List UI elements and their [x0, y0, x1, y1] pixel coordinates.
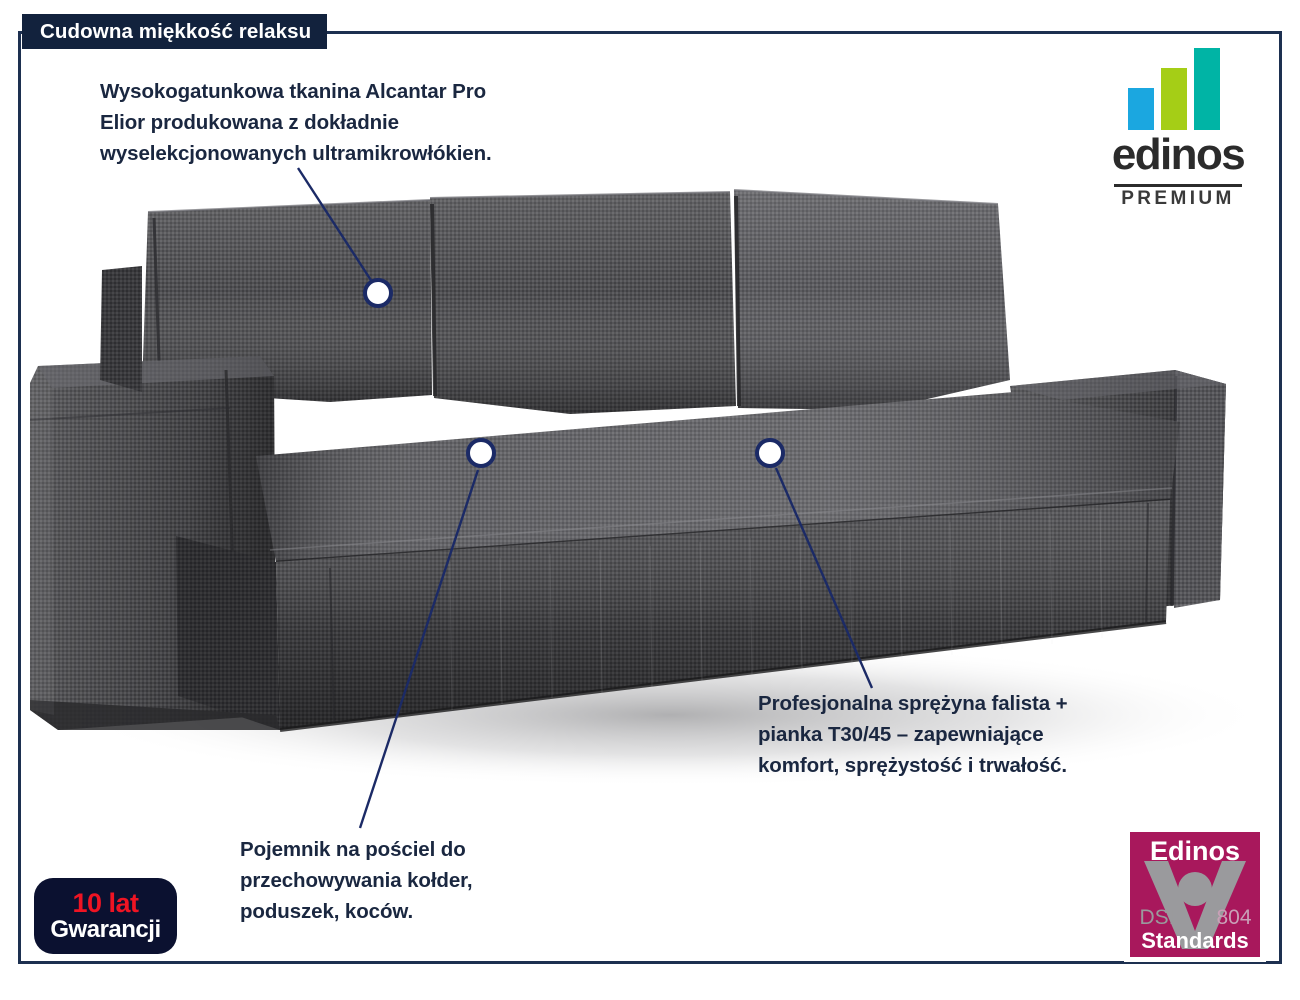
dsi-code-right: 804: [1216, 906, 1251, 929]
callout-text-storage: Pojemnik na pościel do przechowywania ko…: [240, 834, 473, 927]
callout-dot-storage[interactable]: [466, 438, 496, 468]
warranty-badge: 10 lat Gwarancji: [34, 878, 177, 954]
callout-line: komfort, sprężystość i trwałość.: [758, 750, 1068, 781]
dsi-standard-text: Standards: [1141, 928, 1249, 953]
dsi-badge-graphic: Edinos DSI 804 Standards: [1124, 827, 1266, 962]
logo-wordmark: edinos: [1090, 130, 1266, 180]
callout-line: Elior produkowana z dokładnie: [100, 107, 492, 138]
infographic-root: Wysokogatunkowa tkanina Alcantar Pro Eli…: [0, 0, 1300, 1000]
logo-bar-teal: [1194, 48, 1220, 130]
logo-bar-lime: [1161, 68, 1187, 130]
logo-bar-blue: [1128, 88, 1154, 130]
callout-line: Profesjonalna sprężyna falista +: [758, 688, 1068, 719]
edinos-premium-logo: edinos PREMIUM: [1090, 48, 1266, 220]
callout-line: wyselekcjonowanych ultramikrowłókien.: [100, 138, 492, 169]
warranty-years: 10 lat: [72, 889, 138, 917]
logo-bars-icon: [1128, 48, 1228, 130]
sofa-illustration: [30, 170, 1260, 820]
logo-divider: [1114, 184, 1242, 187]
callout-line: Pojemnik na pościel do: [240, 834, 473, 865]
callout-text-fabric: Wysokogatunkowa tkanina Alcantar Pro Eli…: [100, 76, 492, 169]
product-photo: [30, 170, 1260, 820]
callout-dot-spring[interactable]: [755, 438, 785, 468]
page-title: Cudowna miękkość relaksu: [22, 14, 327, 49]
warranty-label: Gwarancji: [50, 917, 160, 943]
callout-line: poduszek, koców.: [240, 896, 473, 927]
dsi-standards-badge: Edinos DSI 804 Standards: [1124, 827, 1266, 962]
callout-line: pianka T30/45 – zapewniające: [758, 719, 1068, 750]
callout-line: Wysokogatunkowa tkanina Alcantar Pro: [100, 76, 492, 107]
callout-text-spring: Profesjonalna sprężyna falista + pianka …: [758, 688, 1068, 781]
callout-line: przechowywania kołder,: [240, 865, 473, 896]
logo-tagline: PREMIUM: [1090, 188, 1266, 210]
callout-dot-fabric[interactable]: [363, 278, 393, 308]
dsi-code-left: DSI: [1139, 906, 1174, 929]
dsi-brand-text: Edinos: [1150, 836, 1240, 866]
